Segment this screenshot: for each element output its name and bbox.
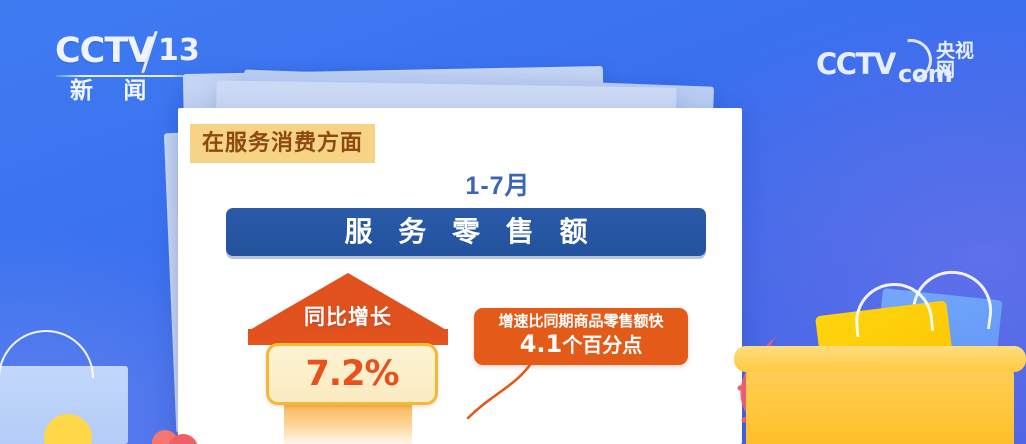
shopping-basket-rim bbox=[734, 346, 1026, 372]
callout-number: 4.1 bbox=[520, 330, 563, 358]
shopping-basket bbox=[746, 360, 1014, 444]
callout-line-1: 增速比同期商品零售额快 bbox=[498, 314, 663, 331]
cctv-com-chinese-name: 央视网 bbox=[936, 42, 986, 80]
callout-suffix: 个百分点 bbox=[562, 335, 642, 357]
shopping-illustration bbox=[726, 214, 1026, 444]
cctv-com-wordmark: CCTV bbox=[816, 50, 895, 79]
main-content-card: 在服务消费方面 1-7月 服 务 零 售 额 同比增长 7.2% 增速比同期商品… bbox=[178, 108, 742, 444]
growth-label: 同比增长 bbox=[248, 307, 448, 328]
cctv13-channel-name: 新 闻 bbox=[70, 78, 158, 103]
decor-bag-handle-left-icon bbox=[0, 330, 94, 378]
period-label: 1-7月 bbox=[178, 166, 742, 202]
comparison-callout: 增速比同期商品零售额快 4.1个百分点 bbox=[474, 308, 688, 365]
metric-banner-title: 服 务 零 售 额 bbox=[335, 218, 596, 246]
infographic-canvas: CCTV 13 新 闻 CCTV com 央视网 在服务消费方面 1-7月 服 … bbox=[0, 0, 1026, 444]
cctv13-wordmark: CCTV bbox=[55, 34, 153, 69]
cctv13-channel-number: 13 bbox=[158, 36, 200, 66]
cctv-com-logo: CCTV com 央视网 bbox=[816, 42, 986, 90]
callout-line-2: 4.1个百分点 bbox=[520, 331, 643, 359]
growth-value: 7.2% bbox=[305, 357, 398, 392]
growth-value-box: 7.2% bbox=[266, 343, 438, 405]
metric-banner: 服 务 零 售 额 bbox=[226, 208, 706, 256]
tagline-badge: 在服务消费方面 bbox=[190, 124, 375, 163]
callout-pointer-tail-icon bbox=[464, 360, 534, 422]
growth-arrow: 同比增长 7.2% bbox=[248, 273, 448, 444]
